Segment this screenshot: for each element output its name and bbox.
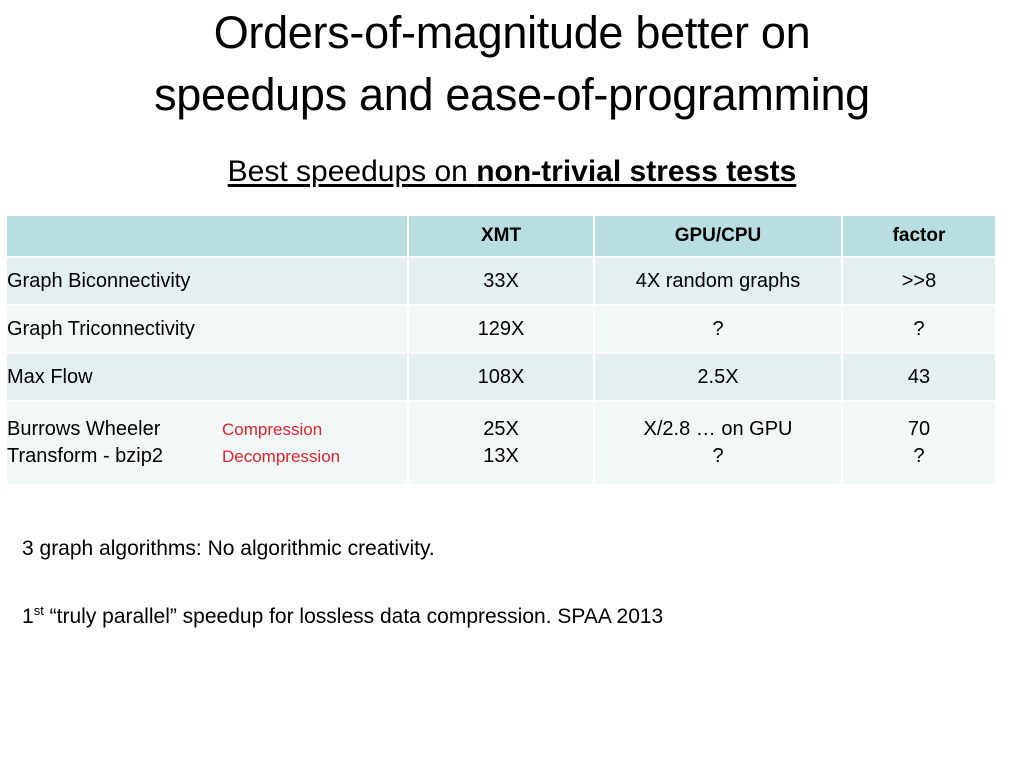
- title-line-1: Orders-of-magnitude better on: [0, 2, 1024, 64]
- subtitle-plain-text: Best speedups on: [228, 155, 477, 188]
- row-label: Max Flow: [7, 353, 408, 401]
- subtitle-bold-text: non-trivial stress tests: [476, 155, 796, 188]
- row-xmt-value: 25X 13X: [408, 401, 594, 485]
- row-factor-line-2: ?: [843, 443, 995, 470]
- row-label-line-2: Transform - bzip2: [7, 443, 222, 470]
- table-row: Burrows Wheeler Transform - bzip2 Compre…: [7, 401, 995, 485]
- row-xmt-value: 33X: [408, 257, 594, 305]
- table-row: Graph Triconnectivity 129X ? ?: [7, 305, 995, 353]
- note-ordinal-number: 1: [22, 605, 34, 628]
- row-gpu-cpu-line-1: X/2.8 … on GPU: [595, 416, 841, 443]
- slide-title: Orders-of-magnitude better on speedups a…: [0, 2, 1024, 126]
- row-factor-value: ?: [842, 305, 995, 353]
- row-note-decompression: Decompression: [222, 443, 407, 470]
- slide-notes: 3 graph algorithms: No algorithmic creat…: [22, 534, 982, 632]
- row-xmt-line-2: 13X: [409, 443, 593, 470]
- row-factor-value: >>8: [842, 257, 995, 305]
- row-gpu-cpu-line-2: ?: [595, 443, 841, 470]
- row-label: Graph Triconnectivity: [7, 305, 408, 353]
- row-gpu-cpu-value: 4X random graphs: [594, 257, 842, 305]
- row-xmt-value: 129X: [408, 305, 594, 353]
- note-remaining-text: “truly parallel” speedup for lossless da…: [44, 605, 663, 628]
- row-factor-value: 70 ?: [842, 401, 995, 485]
- table-row: Max Flow 108X 2.5X 43: [7, 353, 995, 401]
- row-gpu-cpu-value: ?: [594, 305, 842, 353]
- table-body: Graph Biconnectivity 33X 4X random graph…: [7, 257, 995, 485]
- column-header-blank: [7, 216, 408, 257]
- row-gpu-cpu-value: 2.5X: [594, 353, 842, 401]
- speedups-table: XMT GPU/CPU factor Graph Biconnectivity …: [7, 216, 995, 486]
- row-xmt-line-1: 25X: [409, 416, 593, 443]
- row-label-line-1: Burrows Wheeler: [7, 416, 222, 443]
- table-row: Graph Biconnectivity 33X 4X random graph…: [7, 257, 995, 305]
- column-header-factor: factor: [842, 216, 995, 257]
- column-header-gpu-cpu: GPU/CPU: [594, 216, 842, 257]
- note-graph-algorithms: 3 graph algorithms: No algorithmic creat…: [22, 534, 982, 564]
- row-note-compression: Compression: [222, 416, 407, 443]
- row-gpu-cpu-value: X/2.8 … on GPU ?: [594, 401, 842, 485]
- row-factor-line-1: 70: [843, 416, 995, 443]
- note-truly-parallel: 1st “truly parallel” speedup for lossles…: [22, 602, 982, 632]
- slide-subtitle: Best speedups on non-trivial stress test…: [0, 152, 1024, 192]
- row-factor-value: 43: [842, 353, 995, 401]
- table-header-row: XMT GPU/CPU factor: [7, 216, 995, 257]
- row-xmt-value: 108X: [408, 353, 594, 401]
- row-label: Burrows Wheeler Transform - bzip2 Compre…: [7, 401, 408, 485]
- title-line-2: speedups and ease-of-programming: [0, 64, 1024, 126]
- note-ordinal-suffix: st: [34, 603, 44, 618]
- table-header: XMT GPU/CPU factor: [7, 216, 995, 257]
- column-header-xmt: XMT: [408, 216, 594, 257]
- row-label: Graph Biconnectivity: [7, 257, 408, 305]
